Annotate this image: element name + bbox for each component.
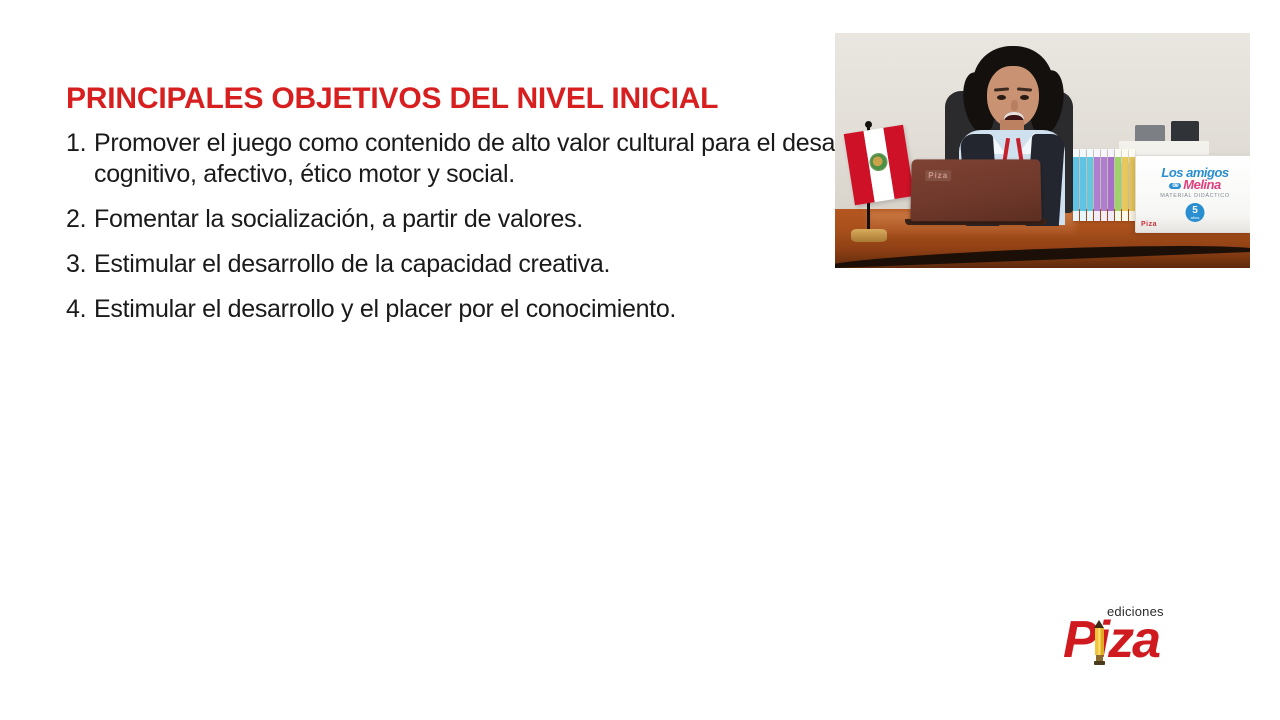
- logo-wordmark: Piza: [1063, 614, 1159, 666]
- laptop: Piza: [910, 159, 1041, 221]
- coat-of-arms-icon: [868, 152, 889, 173]
- desk-edge: [835, 240, 1250, 268]
- list-item-text: Estimular el desarrollo y el placer por …: [94, 294, 946, 325]
- face: [987, 66, 1039, 128]
- peru-flag-icon: [844, 125, 915, 205]
- list-item: 4. Estimular el desarrollo y el placer p…: [66, 294, 946, 325]
- material-box-subtitle: MATERIAL DIDÁCTICO: [1136, 193, 1250, 199]
- book-spine: [1115, 149, 1121, 221]
- list-item-number: 2.: [66, 204, 94, 235]
- book-spine: [1080, 149, 1086, 221]
- pencil-base: [1094, 661, 1105, 665]
- laptop-brand-label: Piza: [925, 170, 951, 181]
- list-item-text: Estimular el desarrollo de la capacidad …: [94, 249, 946, 280]
- book-spine: [1122, 149, 1128, 221]
- list-item: 2. Fomentar la socialización, a partir d…: [66, 204, 946, 235]
- age-unit: años: [1186, 216, 1205, 220]
- list-item-text: Promover el juego como contenido de alto…: [94, 128, 946, 190]
- age-badge: 5 años: [1186, 203, 1205, 222]
- pencil-tip: [1094, 620, 1104, 628]
- book-stack: [1073, 147, 1143, 221]
- objectives-list: 1. Promover el juego como contenido de a…: [66, 128, 946, 339]
- list-item: 1. Promover el juego como contenido de a…: [66, 128, 946, 190]
- list-item: 3. Estimular el desarrollo de la capacid…: [66, 249, 946, 280]
- eyebrow-right: [1017, 87, 1032, 91]
- presenter-video[interactable]: Piza Los amigos deMelina MATERIAL DIDÁCT…: [835, 33, 1250, 268]
- nose: [1011, 100, 1018, 111]
- pencil-icon: [1094, 620, 1105, 666]
- eye-left: [997, 95, 1006, 100]
- book-spine: [1094, 149, 1100, 221]
- book-spine: [1108, 149, 1114, 221]
- material-box-brand-name: Melina: [1183, 177, 1220, 192]
- piza-logo: ediciones Piza: [1063, 604, 1183, 666]
- pencil-body: [1095, 628, 1104, 655]
- book-spine: [1101, 149, 1107, 221]
- material-box-de-label: de: [1169, 183, 1181, 189]
- page-title: PRINCIPALES OBJETIVOS DEL NIVEL INICIAL: [66, 82, 718, 116]
- material-box: Los amigos deMelina MATERIAL DIDÁCTICO 5…: [1135, 155, 1250, 233]
- material-box-publisher: Piza: [1141, 221, 1157, 228]
- book-spine: [1087, 149, 1093, 221]
- flag-base: [851, 229, 887, 242]
- list-item-text: Fomentar la socialización, a partir de v…: [94, 204, 946, 235]
- list-item-number: 4.: [66, 294, 94, 325]
- eyebrow-left: [994, 87, 1009, 91]
- list-item-number: 1.: [66, 128, 94, 159]
- material-box-title-line2: deMelina: [1136, 177, 1250, 192]
- book-spine: [1073, 149, 1079, 221]
- eye-right: [1020, 95, 1029, 100]
- list-item-number: 3.: [66, 249, 94, 280]
